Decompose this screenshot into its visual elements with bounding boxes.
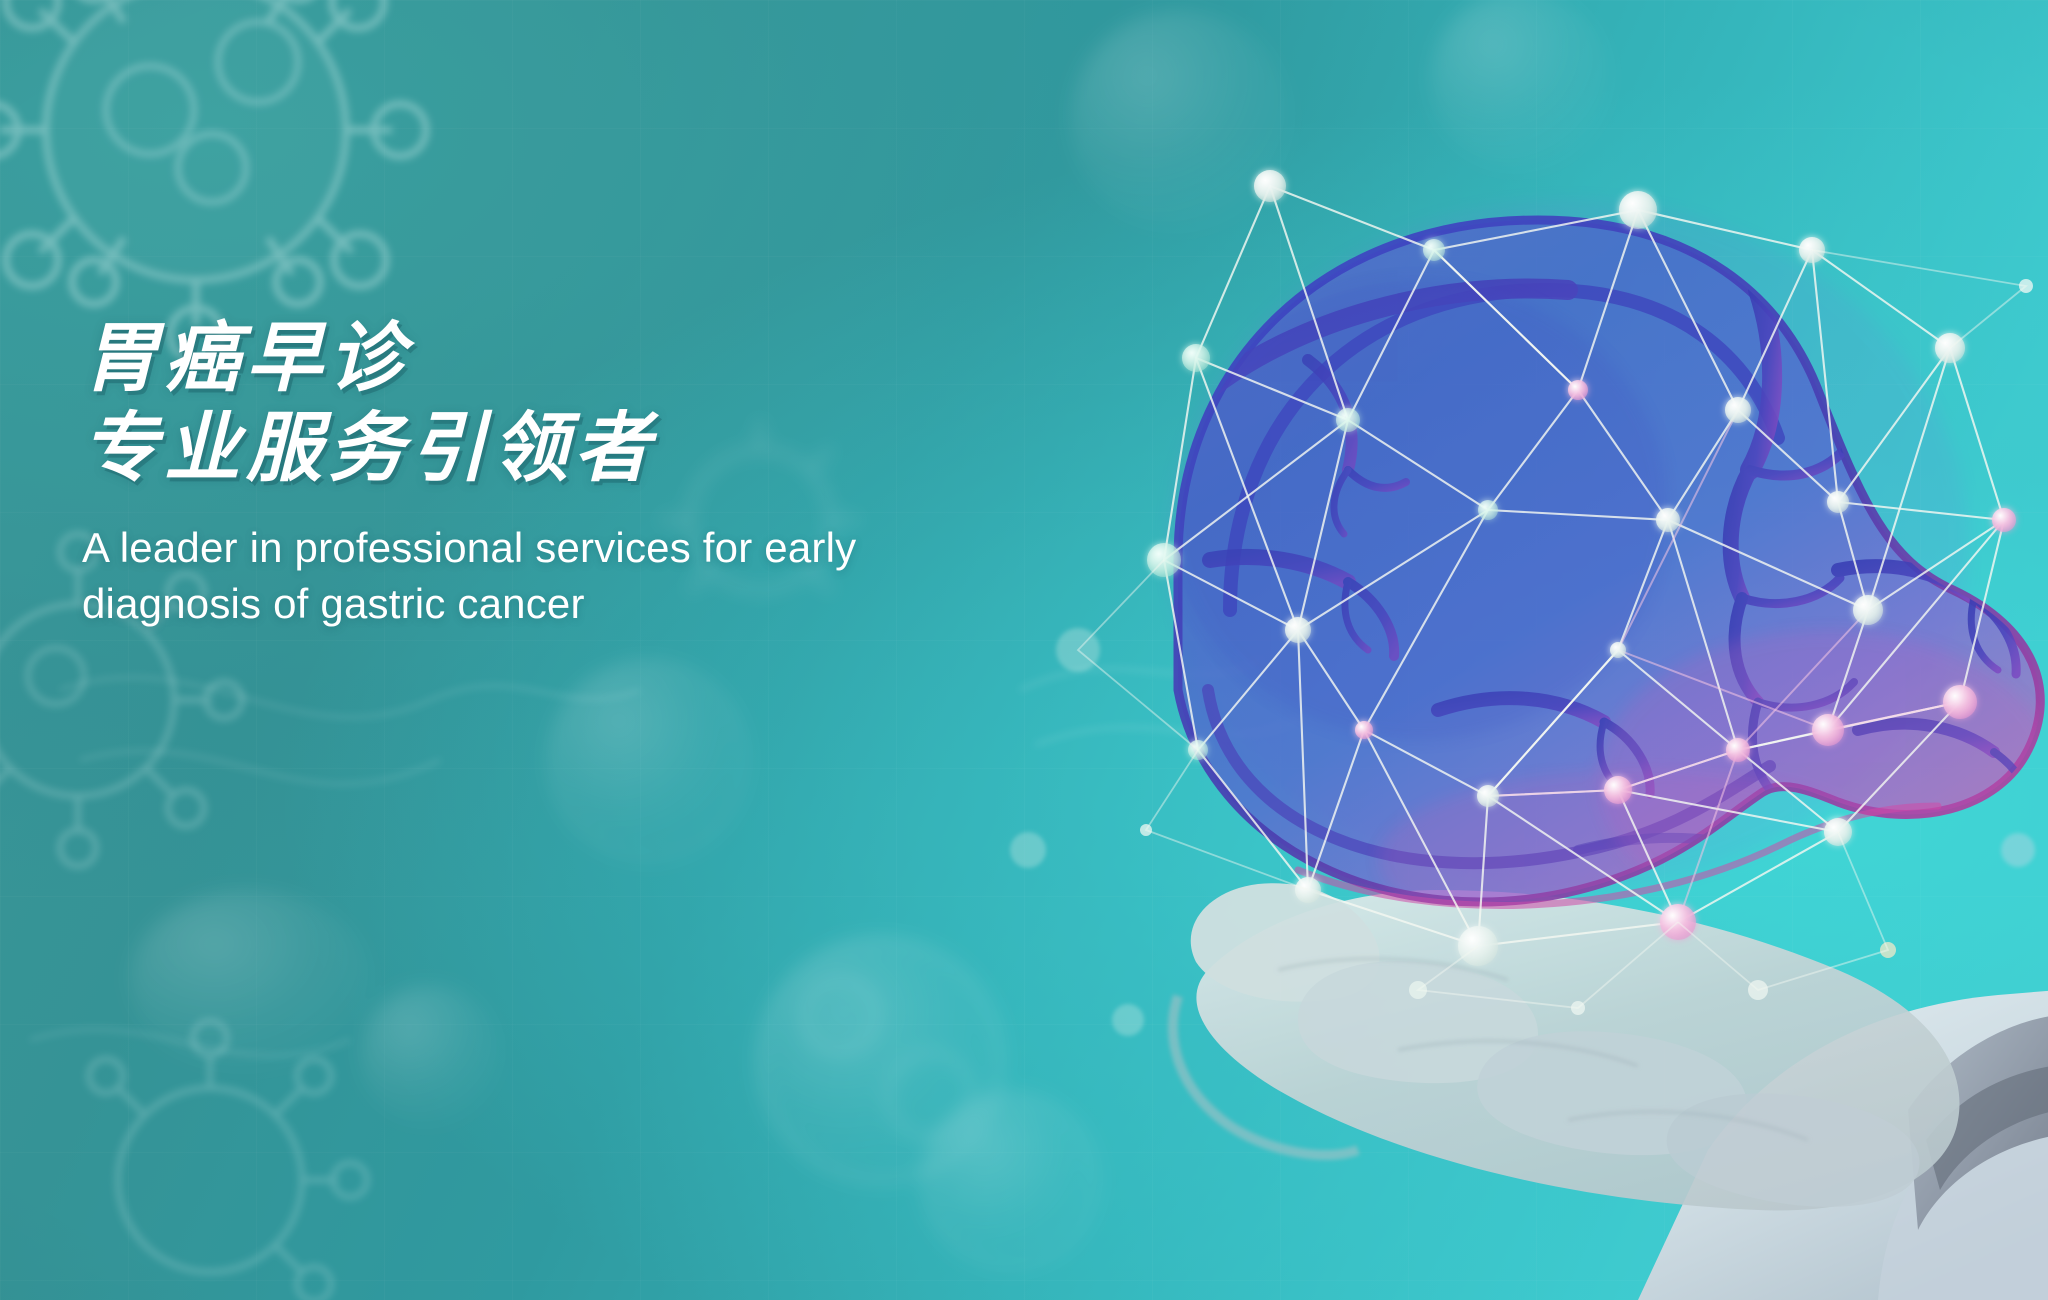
subheadline-line-1: A leader in professional services for ea… (82, 520, 882, 576)
headline-line-1: 胃癌早诊 (82, 318, 982, 400)
hero-copy-block: 胃癌早诊 专业服务引领者 A leader in professional se… (82, 318, 982, 632)
open-palm-hand (1173, 883, 1960, 1210)
stomach-organ (1168, 200, 2048, 950)
stomach-in-hand-illustration (878, 90, 2048, 1300)
headline-line-2: 专业服务引领者 (82, 408, 982, 490)
hero-banner: 胃癌早诊 专业服务引领者 A leader in professional se… (0, 0, 2048, 1300)
virus-icon-large (0, 0, 426, 360)
subheadline: A leader in professional services for ea… (82, 520, 882, 632)
virus-icon-bottom-left (89, 1021, 367, 1300)
subheadline-line-2: diagnosis of gastric cancer (82, 576, 882, 632)
